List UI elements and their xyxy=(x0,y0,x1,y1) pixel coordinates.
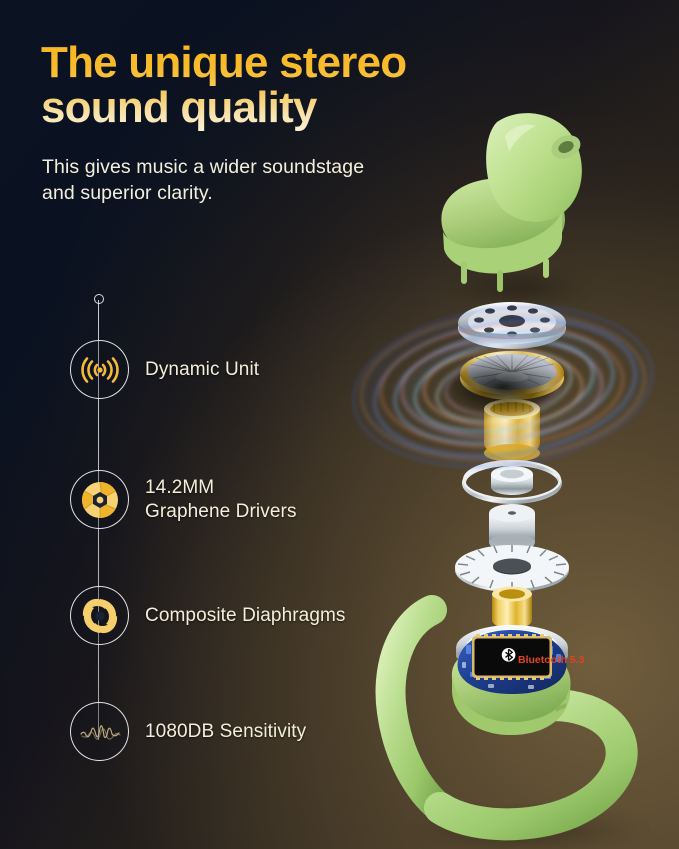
feature-label: 1080DB Sensitivity xyxy=(145,720,306,743)
feature-item-graphene-drivers[interactable]: 14.2MM Graphene Drivers xyxy=(70,470,297,529)
bluetooth-icon xyxy=(502,648,516,662)
coil-bobbin-gold xyxy=(492,587,532,630)
ear-hook-body xyxy=(391,610,650,849)
feature-label: Dynamic Unit xyxy=(145,358,259,381)
feature-item-composite-diaphragms[interactable]: Composite Diaphragms xyxy=(70,586,346,645)
chip-label: Bluetooth 5.3 xyxy=(518,654,585,666)
feature-item-sensitivity[interactable]: 1080DB Sensitivity xyxy=(70,702,306,761)
signal-waves-icon xyxy=(70,340,129,399)
headline-line-2: sound quality xyxy=(41,86,511,131)
perforated-grille-disc xyxy=(458,302,566,349)
feature-item-dynamic-unit[interactable]: Dynamic Unit xyxy=(70,340,259,399)
graphene-diaphragm xyxy=(460,351,564,400)
page-subtitle: This gives music a wider soundstage and … xyxy=(42,155,442,207)
spiral-swirl-icon xyxy=(70,586,129,645)
waveform-icon xyxy=(70,702,129,761)
rail-top-dot xyxy=(94,294,104,304)
feature-list: Dynamic Unit xyxy=(70,292,410,762)
product-feature-banner: Bluetooth 5.3 The unique stereo sound qu… xyxy=(0,0,679,849)
page-title: The unique stereo sound quality xyxy=(41,41,511,131)
subtitle-line-1: This gives music a wider soundstage xyxy=(42,156,364,178)
ear-tip-and-housing xyxy=(441,113,590,304)
voice-coil-gold xyxy=(484,399,540,462)
aperture-icon xyxy=(70,470,129,529)
mesh-backplate xyxy=(456,625,568,675)
subtitle-line-2: and superior clarity. xyxy=(42,181,442,207)
headline-line-1: The unique stereo xyxy=(41,38,406,87)
feature-label: Composite Diaphragms xyxy=(145,604,346,627)
magnet-cylinder xyxy=(489,504,535,552)
bluetooth-pcb: Bluetooth 5.3 xyxy=(458,630,585,694)
slotted-washer xyxy=(455,545,569,592)
feature-label: 14.2MM Graphene Drivers xyxy=(145,476,297,523)
magnet-ring xyxy=(464,461,560,502)
